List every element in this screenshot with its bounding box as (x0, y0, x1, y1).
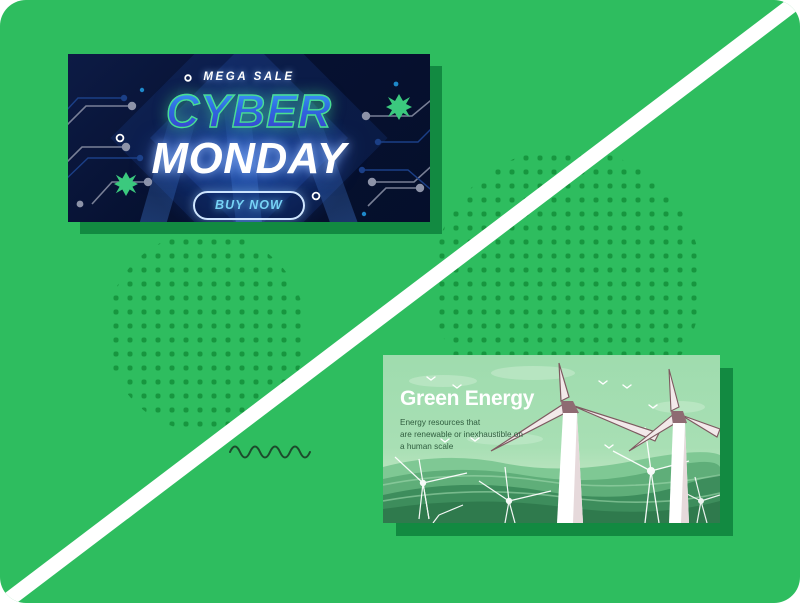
buy-now-button[interactable]: BUY NOW (193, 191, 305, 220)
energy-text-block: Green Energy Energy resources that are r… (400, 387, 570, 453)
cyber-banner-content: MEGA SALE CYBER MONDAY BUY NOW (68, 54, 430, 222)
wavy-line-icon (228, 438, 316, 464)
energy-title: Green Energy (400, 387, 570, 411)
cyber-monday-banner[interactable]: MEGA SALE CYBER MONDAY BUY NOW (68, 54, 430, 222)
monday-headline: MONDAY (151, 134, 346, 184)
energy-subtitle: Energy resources that are renewable or i… (400, 417, 570, 453)
mega-sale-eyebrow: MEGA SALE (203, 71, 294, 83)
design-canvas: MEGA SALE CYBER MONDAY BUY NOW (0, 0, 800, 603)
green-energy-banner[interactable]: Green Energy Energy resources that are r… (383, 355, 720, 523)
cyber-headline: CYBER (166, 84, 332, 138)
